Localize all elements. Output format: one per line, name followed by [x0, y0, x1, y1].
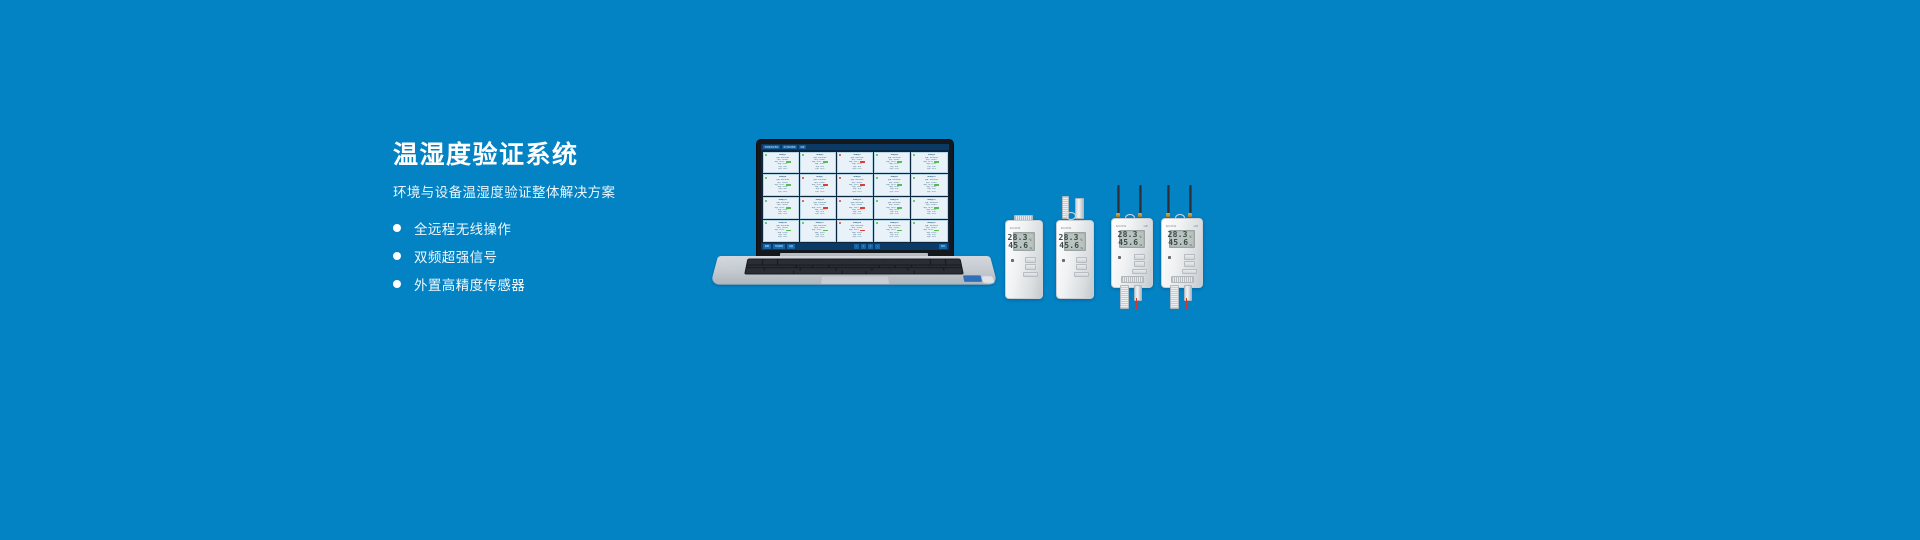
device-button-bottom[interactable]: [1132, 269, 1147, 274]
card-row-value: 10:25: [783, 191, 787, 193]
card-row-value: 10:25: [820, 191, 824, 193]
feature-list: 全远程无线操作 双频超强信号 外置高精度传感器: [393, 220, 723, 292]
device-status-led-icon: [1118, 256, 1121, 259]
monitoring-card[interactable]: 监测点8设备:ENOW-H8编号:202401温度:28.3℃湿度:45.6%状…: [837, 174, 873, 196]
device-brand-row: ENOW: [1010, 225, 1038, 230]
page-subtitle: 环境与设备温湿度验证整体解决方案: [393, 184, 723, 202]
pager-next-button[interactable]: ›: [875, 244, 880, 249]
monitoring-card[interactable]: 监测点9设备:ENOW-H8编号:202401温度:28.3℃湿度:45.6%状…: [874, 174, 910, 196]
card-row: 时间:10:25: [880, 213, 908, 215]
card-row-key: 时间:: [927, 191, 931, 193]
monitoring-card[interactable]: 监测点15设备:ENOW-H8编号:202401温度:28.3℃湿度:45.6%…: [911, 197, 947, 219]
card-row: 时间:10:25: [917, 236, 945, 238]
monitoring-card[interactable]: 监测点16设备:ENOW-H8编号:202401温度:28.3℃湿度:45.6%…: [763, 220, 799, 242]
device-status-led-icon: [1062, 259, 1065, 262]
card-row-value: 10:25: [895, 236, 899, 238]
pager-page-2-button[interactable]: 2: [868, 244, 873, 249]
card-row: 时间:10:25: [806, 213, 834, 215]
monitoring-card[interactable]: 监测点12设备:ENOW-H8编号:202401温度:28.3℃湿度:45.6%…: [800, 197, 836, 219]
app-tab-monitoring[interactable]: 温湿度验证系统: [763, 145, 780, 149]
status-dot-icon: [839, 222, 841, 224]
monitoring-card[interactable]: 监测点1设备:ENOW-H8编号:202401温度:28.3℃湿度:45.6%状…: [763, 152, 799, 174]
lcd-humidity-value: 45.6: [1118, 239, 1138, 247]
device-body: ENOW 28.3 ℃ 45.6 %: [1005, 220, 1043, 299]
device-data-logger-probe: ENOW 28.3 ℃ 45.6 %: [1054, 196, 1094, 297]
monitoring-card[interactable]: 监测点14设备:ENOW-H8编号:202401温度:28.3℃湿度:45.6%…: [874, 197, 910, 219]
keyboard-key[interactable]: [915, 271, 939, 273]
card-row-value: 10:25: [820, 236, 824, 238]
card-row-value: 10:25: [857, 213, 861, 215]
card-row-value: 10:25: [895, 168, 899, 170]
status-dot-icon: [765, 177, 767, 179]
card-row-key: 时间:: [890, 168, 894, 170]
card-row-value: 10:25: [932, 213, 936, 215]
feature-label: 全远程无线操作: [414, 218, 511, 238]
app-button-exit[interactable]: 退出: [939, 244, 947, 249]
card-row-value: 10:25: [895, 213, 899, 215]
antenna-right-icon: [1189, 185, 1192, 215]
card-row: 时间:10:25: [806, 168, 834, 170]
card-row-key: 时间:: [778, 236, 782, 238]
keyboard-key[interactable]: [770, 271, 794, 273]
lcd-humidity-value: 45.6: [1168, 239, 1188, 247]
card-row-key: 时间:: [815, 168, 819, 170]
device-button-down[interactable]: [1184, 261, 1195, 267]
card-row: 时间:10:25: [843, 191, 871, 193]
card-row: 时间:10:25: [769, 213, 797, 215]
card-row: 时间:10:25: [917, 213, 945, 215]
antenna-base-left-icon: [1166, 213, 1170, 217]
antenna-left-icon: [1117, 185, 1120, 215]
bullet-dot-icon: [393, 280, 401, 288]
status-dot-icon: [765, 154, 767, 156]
lcd-humidity-line: 45.6 %: [1016, 242, 1032, 250]
device-button-up[interactable]: [1025, 257, 1036, 263]
device-body: ENOW 28.3 ℃ 45.6 %: [1056, 220, 1094, 299]
card-row: 时间:10:25: [880, 191, 908, 193]
keyboard-key[interactable]: [745, 271, 769, 273]
card-row-key: 时间:: [890, 213, 894, 215]
card-row-key: 时间:: [852, 168, 856, 170]
card-row: 时间:10:25: [880, 236, 908, 238]
lcd-humidity-unit: %: [1189, 244, 1192, 247]
device-wireless-logger-left: ENOW H8 28.3 ℃ 45.6 %: [1108, 185, 1154, 310]
card-row-key: 时间:: [778, 191, 782, 193]
status-dot-icon: [876, 177, 878, 179]
laptop-base: [710, 256, 997, 285]
pager-page-1-button[interactable]: 1: [861, 244, 866, 249]
laptop-sticker-silver: [981, 275, 996, 283]
device-lcd-display: 28.3 ℃ 45.6 %: [1119, 230, 1145, 248]
laptop-lid: 温湿度验证系统 实时监控数据 报警 监测点1设备:ENOW-H8编号:20240…: [757, 140, 953, 258]
status-dot-icon: [802, 222, 804, 224]
antenna-base-right-icon: [1138, 213, 1142, 217]
lcd-humidity-line: 45.6 %: [1067, 242, 1083, 250]
list-item: 全远程无线操作: [393, 220, 723, 236]
monitoring-card[interactable]: 监测点3设备:ENOW-H8编号:202401温度:28.3℃湿度:45.6%状…: [837, 152, 873, 174]
device-brand-row: ENOW H8: [1166, 223, 1198, 228]
lcd-humidity-value: 45.6: [1008, 242, 1028, 250]
status-dot-icon: [802, 200, 804, 202]
status-dot-icon: [765, 222, 767, 224]
status-dot-icon: [876, 200, 878, 202]
card-row-key: 时间:: [815, 213, 819, 215]
status-dot-icon: [913, 222, 915, 224]
monitoring-card[interactable]: 监测点13设备:ENOW-H8编号:202401温度:28.3℃湿度:45.6%…: [837, 197, 873, 219]
card-row-value: 10:25: [932, 168, 936, 170]
sensor-probe-icon: [1120, 285, 1129, 309]
device-brand-label: ENOW: [1166, 224, 1177, 228]
card-row-value: 10:25: [820, 168, 824, 170]
laptop-illustration: 温湿度验证系统 实时监控数据 报警 监测点1设备:ENOW-H8编号:20240…: [718, 140, 990, 300]
monitoring-card[interactable]: 监测点6设备:ENOW-H8编号:202401温度:28.3℃湿度:45.6%状…: [763, 174, 799, 196]
app-button-export[interactable]: 导出报表: [773, 244, 785, 249]
bullet-dot-icon: [393, 252, 401, 260]
card-row: 时间:10:25: [806, 191, 834, 193]
app-bottom-bar: 数据 导出报表 设置 ‹ 1 2 › 退出: [761, 243, 949, 250]
lcd-humidity-unit: %: [1080, 247, 1083, 250]
keyboard-key[interactable]: [818, 271, 842, 273]
device-button-bottom[interactable]: [1182, 269, 1197, 274]
device-data-logger-vent: ENOW 28.3 ℃ 45.6 %: [1005, 215, 1041, 297]
monitoring-card[interactable]: 监测点2设备:ENOW-H8编号:202401温度:28.3℃湿度:45.6%状…: [800, 152, 836, 174]
keyboard-key[interactable]: [939, 271, 963, 273]
lcd-humidity-line: 45.6 %: [1122, 239, 1142, 247]
card-row-key: 时间:: [927, 236, 931, 238]
card-row: 时间:10:25: [769, 191, 797, 193]
device-button-down[interactable]: [1076, 264, 1087, 270]
status-dot-icon: [802, 154, 804, 156]
status-dot-icon: [802, 177, 804, 179]
antenna-base-right-icon: [1188, 213, 1192, 217]
device-button-down[interactable]: [1134, 261, 1145, 267]
keyboard-key[interactable]: [866, 271, 890, 273]
card-row-key: 时间:: [890, 191, 894, 193]
card-row-key: 时间:: [852, 236, 856, 238]
feature-label: 外置高精度传感器: [414, 274, 525, 294]
vent-grille-icon: [1121, 276, 1144, 283]
card-row-value: 10:25: [820, 213, 824, 215]
laptop-trackpad[interactable]: [820, 275, 890, 284]
pager-prev-button[interactable]: ‹: [854, 244, 859, 249]
device-status-led-icon: [1168, 256, 1171, 259]
card-row-value: 10:25: [895, 191, 899, 193]
card-row: 时间:10:25: [917, 168, 945, 170]
hero-banner: 温湿度验证系统 环境与设备温湿度验证整体解决方案 全远程无线操作 双频超强信号 …: [0, 0, 1920, 540]
laptop-sticker-blue: [963, 275, 982, 281]
card-row-value: 10:25: [783, 213, 787, 215]
lcd-humidity-line: 45.6 %: [1172, 239, 1192, 247]
card-row: 时间:10:25: [843, 213, 871, 215]
device-button-bottom[interactable]: [1023, 272, 1038, 277]
sensor-wire: [1186, 298, 1187, 310]
monitoring-card[interactable]: 监测点17设备:ENOW-H8编号:202401温度:28.3℃湿度:45.6%…: [800, 220, 836, 242]
device-model-label: H8: [1144, 224, 1148, 228]
card-row-value: 10:25: [783, 236, 787, 238]
monitoring-card[interactable]: 监测点19设备:ENOW-H8编号:202401温度:28.3℃湿度:45.6%…: [874, 220, 910, 242]
status-dot-icon: [839, 154, 841, 156]
hero-copy: 温湿度验证系统 环境与设备温湿度验证整体解决方案 全远程无线操作 双频超强信号 …: [393, 140, 723, 304]
card-row-value: 10:25: [857, 168, 861, 170]
keyboard-key[interactable]: [842, 271, 866, 273]
card-row-key: 时间:: [778, 213, 782, 215]
status-dot-icon: [876, 222, 878, 224]
app-button-data[interactable]: 数据: [763, 244, 771, 249]
device-brand-row: ENOW H8: [1116, 223, 1148, 228]
device-button-up[interactable]: [1134, 254, 1145, 260]
status-dot-icon: [876, 154, 878, 156]
status-dot-icon: [765, 200, 767, 202]
device-model-label: H8: [1194, 224, 1198, 228]
device-brand-label: ENOW: [1061, 226, 1072, 230]
device-button-bottom[interactable]: [1074, 272, 1089, 277]
card-row-key: 时间:: [778, 168, 782, 170]
monitoring-card[interactable]: 监测点10设备:ENOW-H8编号:202401温度:28.3℃湿度:45.6%…: [911, 174, 947, 196]
sensor-wire: [1136, 298, 1137, 310]
laptop-keyboard[interactable]: [744, 259, 964, 275]
app-tab-realtime-data[interactable]: 实时监控数据: [782, 145, 797, 149]
monitoring-card[interactable]: 监测点20设备:ENOW-H8编号:202401温度:28.3℃湿度:45.6%…: [911, 220, 947, 242]
antenna-right-icon: [1139, 185, 1142, 215]
card-row: 时间:10:25: [806, 236, 834, 238]
page-title: 温湿度验证系统: [393, 140, 723, 170]
device-lcd-display: 28.3 ℃ 45.6 %: [1013, 232, 1035, 251]
card-row-value: 10:25: [783, 168, 787, 170]
antenna-left-icon: [1167, 185, 1170, 215]
card-row: 时间:10:25: [769, 236, 797, 238]
card-row: 时间:10:25: [843, 236, 871, 238]
device-brand-label: ENOW: [1010, 226, 1021, 230]
card-row-value: 10:25: [932, 236, 936, 238]
device-status-led-icon: [1011, 259, 1014, 262]
feature-label: 双频超强信号: [414, 246, 497, 266]
device-wireless-logger-right: ENOW H8 28.3 ℃ 45.6 %: [1158, 185, 1204, 310]
device-lcd-display: 28.3 ℃ 45.6 %: [1064, 232, 1086, 251]
monitoring-card[interactable]: 监测点18设备:ENOW-H8编号:202401温度:28.3℃湿度:45.6%…: [837, 220, 873, 242]
status-dot-icon: [839, 177, 841, 179]
sensor-probe-metal-icon: [1075, 198, 1084, 219]
monitoring-card[interactable]: 监测点4设备:ENOW-H8编号:202401温度:28.3℃湿度:45.6%状…: [874, 152, 910, 174]
device-body: ENOW H8 28.3 ℃ 45.6 %: [1111, 218, 1153, 288]
card-row-key: 时间:: [927, 213, 931, 215]
lcd-humidity-unit: %: [1029, 247, 1032, 250]
keyboard-key[interactable]: [794, 271, 818, 273]
bullet-dot-icon: [393, 224, 401, 232]
device-button-down[interactable]: [1025, 264, 1036, 270]
list-item: 外置高精度传感器: [393, 276, 723, 292]
device-lcd-display: 28.3 ℃ 45.6 %: [1169, 230, 1195, 248]
antenna-base-left-icon: [1116, 213, 1120, 217]
card-row-key: 时间:: [815, 236, 819, 238]
card-row: 时间:10:25: [769, 168, 797, 170]
device-brand-row: ENOW: [1061, 225, 1089, 230]
device-brand-label: ENOW: [1116, 224, 1127, 228]
monitoring-card[interactable]: 监测点11设备:ENOW-H8编号:202401温度:28.3℃湿度:45.6%…: [763, 197, 799, 219]
device-body: ENOW H8 28.3 ℃ 45.6 %: [1161, 218, 1203, 288]
card-row: 时间:10:25: [880, 168, 908, 170]
card-row-value: 10:25: [857, 191, 861, 193]
card-row-key: 时间:: [852, 191, 856, 193]
card-row-key: 时间:: [927, 168, 931, 170]
monitoring-card-grid: 监测点1设备:ENOW-H8编号:202401温度:28.3℃湿度:45.6%状…: [761, 150, 949, 243]
app-button-settings[interactable]: 设置: [787, 244, 795, 249]
monitoring-card[interactable]: 监测点7设备:ENOW-H8编号:202401温度:28.3℃湿度:45.6%状…: [800, 174, 836, 196]
sensor-probe-icon: [1170, 285, 1179, 309]
status-dot-icon: [913, 154, 915, 156]
app-tab-alarm[interactable]: 报警: [799, 145, 806, 149]
list-item: 双频超强信号: [393, 248, 723, 264]
device-button-up[interactable]: [1076, 257, 1087, 263]
hanging-hook-icon: [1066, 212, 1076, 220]
keyboard-key[interactable]: [890, 271, 914, 273]
lcd-humidity-unit: %: [1139, 244, 1142, 247]
device-button-up[interactable]: [1184, 254, 1195, 260]
vent-grille-icon: [1171, 276, 1194, 283]
lcd-humidity-value: 45.6: [1059, 242, 1079, 250]
laptop-screen: 温湿度验证系统 实时监控数据 报警 监测点1设备:ENOW-H8编号:20240…: [761, 144, 949, 250]
card-row: 时间:10:25: [917, 191, 945, 193]
monitoring-card[interactable]: 监测点5设备:ENOW-H8编号:202401温度:28.3℃湿度:45.6%状…: [911, 152, 947, 174]
card-row-key: 时间:: [852, 213, 856, 215]
card-row-key: 时间:: [890, 236, 894, 238]
card-row-value: 10:25: [932, 191, 936, 193]
keyboard-row[interactable]: [745, 271, 962, 273]
status-dot-icon: [913, 200, 915, 202]
card-row-value: 10:25: [857, 236, 861, 238]
card-row-key: 时间:: [815, 191, 819, 193]
status-dot-icon: [839, 200, 841, 202]
status-dot-icon: [913, 177, 915, 179]
card-row: 时间:10:25: [843, 168, 871, 170]
